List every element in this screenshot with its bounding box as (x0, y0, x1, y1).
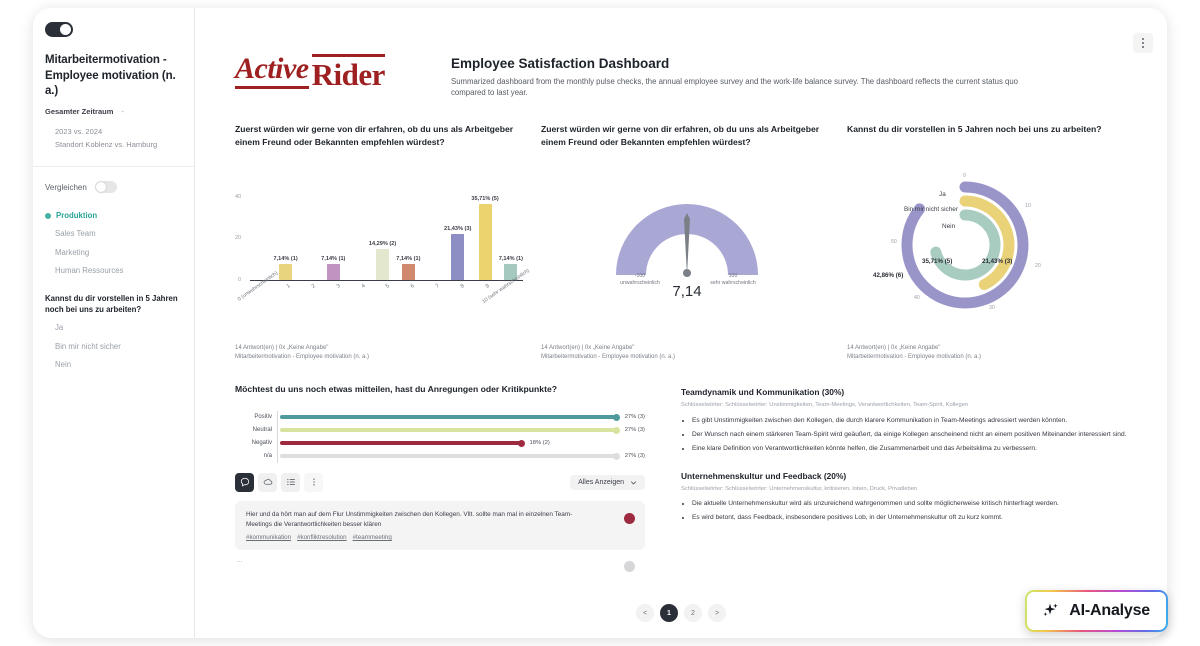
sparkles-icon (1040, 601, 1060, 621)
filter-dropdown[interactable]: Alles Anzeigen (570, 475, 645, 490)
bar-chart-x-labels: 0 (unwahrscheinlich)12345678910 (sehr wa… (250, 281, 523, 323)
x-tick-label: 8 (460, 283, 466, 290)
radial-series-label-unsure: Bin mir nicht sicher (904, 206, 958, 213)
x-label-slot: 2 (300, 281, 325, 323)
insights-panel: Teamdynamik und Kommunikation (30%) Schl… (681, 383, 1145, 589)
chart-title-2: Zuerst würden wir gerne von dir erfahren… (541, 123, 833, 165)
bar[interactable] (376, 249, 389, 279)
bar-value-label: 14,29% (2) (369, 241, 396, 247)
feedback-panel: Möchtest du uns noch etwas mitteilen, ha… (235, 383, 645, 589)
bottom-row: Möchtest du uns noch etwas mitteilen, ha… (235, 383, 1145, 589)
footnote-answers: 14 Antwort(en) | 0x „Keine Angabe" (847, 344, 1139, 354)
x-tick-label: 6 (410, 283, 416, 290)
sidebar-period-label: Gesamter Zeitraum (45, 107, 113, 116)
sentiment-row-label: Neutral (235, 427, 277, 433)
chart-footnote-1: 14 Antwort(en) | 0x „Keine Angabe" Mitar… (235, 344, 527, 364)
sidebar-option-ja[interactable]: Ja (45, 319, 182, 337)
ai-analyse-button[interactable]: AI-Analyse (1025, 590, 1168, 632)
x-label-slot: 4 (349, 281, 374, 323)
bar-slot: 7,14% (1) (396, 195, 420, 280)
logo-word-active: Active (235, 55, 309, 90)
pagination-prev[interactable]: < (636, 604, 654, 622)
sentiment-row-label: Positiv (235, 414, 277, 420)
gauge-value: 7,14 (672, 283, 701, 300)
insight-bullet: Eine klare Definition von Verantwortlich… (692, 444, 1145, 455)
y-tick-0: 0 (238, 277, 241, 283)
insight-bullet: Es wird betont, dass Feedback, insbesond… (692, 513, 1145, 524)
comment-tag-0[interactable]: #kommunikation (246, 534, 291, 541)
gauge-min-label: -100 unwahrscheinlich (605, 273, 675, 289)
sidebar-item-marketing[interactable]: Marketing (45, 244, 182, 262)
comment-tags: #kommunikation#konfliktresolution#teamme… (246, 534, 634, 541)
bar-slot (421, 195, 444, 280)
radial-tick-40: 40 (914, 295, 920, 301)
sentiment-badge-negative (624, 513, 635, 524)
insight-keywords-1: Schlüsselwörter: Schlüsselwörter: Unstim… (681, 401, 1145, 410)
x-tick-label: 9 (484, 283, 490, 290)
radial-value-ja: 42,86% (6) (873, 272, 903, 279)
radial-tick-0: 0 (963, 173, 966, 179)
sidebar: Mitarbeitermotivation - Employee motivat… (33, 8, 195, 638)
radial-svg (875, 165, 1055, 325)
radial-tick-30: 30 (989, 305, 995, 311)
insight-bullets-2: Die aktuelle Unternehmenskultur wird als… (681, 499, 1145, 524)
comment-text: Hier und da hört man auf dem Flur Unstim… (246, 510, 586, 531)
compare-toggle[interactable] (95, 181, 117, 193)
footnote-answers: 14 Antwort(en) | 0x „Keine Angabe" (235, 344, 527, 354)
radial-value-nein: 35,71% (5) (922, 258, 952, 265)
x-tick-label: 2 (311, 283, 317, 290)
sentiment-toolbar: Alles Anzeigen (235, 473, 645, 492)
more-options-icon[interactable] (1133, 33, 1153, 53)
sidebar-item-sales-team[interactable]: Sales Team (45, 225, 182, 243)
pagination-next[interactable]: > (708, 604, 726, 622)
active-rider-logo: Active Rider (235, 52, 415, 89)
sidebar-item-label: Produktion (56, 211, 97, 221)
bar-value-label: 21,43% (3) (444, 226, 471, 232)
x-label-slot: 5 (374, 281, 399, 323)
sentiment-row: Negativ18% (2) (235, 437, 645, 450)
x-tick-label: 7 (435, 283, 441, 290)
bar-value-label: 7,14% (1) (396, 256, 420, 262)
x-tick-label: 1 (286, 283, 292, 290)
sidebar-meta-1: Standort Koblenz vs. Hamburg (55, 138, 182, 152)
gauge-max-value: 100 (698, 273, 768, 281)
sentiment-row-track: 27% (3) (277, 450, 645, 463)
status-dot-icon (45, 213, 51, 219)
y-tick-20: 20 (235, 235, 241, 241)
sentiment-bar[interactable] (280, 415, 616, 419)
radial-tick-10: 10 (1025, 203, 1031, 209)
sentiment-bar-endpoint (518, 440, 525, 447)
radial-tick-20: 20 (1035, 263, 1041, 269)
sentiment-bar-chart: Positiv27% (3)Neutral27% (3)Negativ18% (… (235, 411, 645, 463)
sentiment-bar[interactable] (280, 428, 616, 432)
chart-title-1: Zuerst würden wir gerne von dir erfahren… (235, 123, 527, 165)
bar[interactable] (279, 264, 292, 279)
insight-bullet: Es gibt Unstimmigkeiten zwischen den Kol… (692, 416, 1145, 427)
pagination: < 1 2 > (636, 604, 726, 622)
bar-slot (250, 195, 273, 280)
footnote-answers: 14 Antwort(en) | 0x „Keine Angabe" (541, 344, 833, 354)
radial-bar-chart: 0 10 20 30 40 50 Ja Bin mir nicht sicher… (847, 165, 1139, 323)
bar-chart: 40 20 0 7,14% (1)7,14% (1)14,29% (2)7,14… (235, 165, 527, 323)
x-label-slot: 0 (unwahrscheinlich) (250, 281, 275, 323)
x-label-slot: 7 (424, 281, 449, 323)
x-tick-label: 3 (336, 283, 342, 290)
sentiment-row-track: 18% (2) (277, 437, 645, 450)
chart-title-3: Kannst du dir vorstellen in 5 Jahren noc… (847, 123, 1139, 165)
sidebar-option-bin-mir-nicht-sicher[interactable]: Bin mir nicht sicher (45, 338, 182, 356)
comment-tag-2[interactable]: #teammeeting (353, 534, 392, 541)
insight-section-1: Teamdynamik und Kommunikation (30%) Schl… (681, 387, 1145, 454)
sentiment-value-label: 27% (3) (625, 427, 645, 433)
bar-slot (298, 195, 321, 280)
gauge-min-sub: unwahrscheinlich (605, 280, 675, 288)
bar-chart-plot: 7,14% (1)7,14% (1)14,29% (2)7,14% (1)21,… (250, 195, 523, 280)
gauge-min-value: -100 (605, 273, 675, 281)
insight-keywords-2: Schlüsselwörter: Schlüsselwörter: Untern… (681, 485, 1145, 494)
x-label-slot: 3 (324, 281, 349, 323)
chevron-down-icon (630, 479, 637, 486)
sentiment-bar-endpoint (613, 414, 620, 421)
bar[interactable] (327, 264, 340, 279)
more-icon[interactable] (304, 473, 323, 492)
radial-series-label-ja: Ja (939, 191, 946, 198)
filter-dropdown-label: Alles Anzeigen (578, 479, 624, 486)
x-label-slot: 6 (399, 281, 424, 323)
sidebar-title: Mitarbeitermotivation - Employee motivat… (45, 53, 182, 100)
sentiment-row-label: Negativ (235, 440, 277, 446)
compare-label: Vergleichen (45, 183, 87, 192)
sentiment-bar-endpoint (613, 453, 620, 460)
chart-title-4: Möchtest du uns noch etwas mitteilen, ha… (235, 383, 645, 396)
sidebar-group-title: Kannst du dir vorstellen in 5 Jahren noc… (45, 293, 182, 316)
chart-footnote-2: 14 Antwort(en) | 0x „Keine Angabe" Mitar… (541, 344, 833, 364)
bar-slot (345, 195, 368, 280)
app-window: Mitarbeitermotivation - Employee motivat… (33, 8, 1167, 638)
bar[interactable] (451, 234, 464, 280)
dashboard-header: Active Rider Employee Satisfaction Dashb… (235, 52, 1145, 99)
sidebar-divider (33, 166, 194, 167)
sentiment-bar[interactable] (280, 454, 616, 458)
screenshot-root: Mitarbeitermotivation - Employee motivat… (0, 0, 1200, 646)
sidebar-option-nein[interactable]: Nein (45, 356, 182, 374)
chart-card-nps-bar: Zuerst würden wir gerne von dir erfahren… (235, 123, 527, 364)
compare-row[interactable]: Vergleichen (45, 181, 182, 193)
main-content: Active Rider Employee Satisfaction Dashb… (195, 8, 1167, 638)
page-title: Employee Satisfaction Dashboard (451, 56, 1145, 71)
sidebar-item-human-ressources[interactable]: Human Ressources (45, 262, 182, 280)
sidebar-item-produktion[interactable]: Produktion (45, 207, 182, 225)
bar-slot: 7,14% (1) (499, 195, 523, 280)
gauge-max-sub: sehr wahrscheinlich (698, 280, 768, 288)
page-description: Summarized dashboard from the monthly pu… (451, 76, 1051, 99)
pagination-page-2[interactable]: 2 (684, 604, 702, 622)
x-label-slot: 1 (275, 281, 300, 323)
gauge-svg (602, 179, 772, 284)
list-icon[interactable] (281, 473, 300, 492)
ai-analyse-label: AI-Analyse (1069, 602, 1150, 620)
pagination-page-1[interactable]: 1 (660, 604, 678, 622)
sentiment-row: Neutral27% (3) (235, 424, 645, 437)
footnote-source: Mitarbeitermotivation - Employee motivat… (847, 353, 1139, 363)
comment-card[interactable]: Hier und da hört man auf dem Flur Unstim… (235, 501, 645, 551)
radial-value-unsure: 21,43% (3) (982, 258, 1012, 265)
bar-slot: 21,43% (3) (444, 195, 471, 280)
gauge-max-label: 100 sehr wahrscheinlich (698, 273, 768, 289)
x-tick-label: 4 (360, 283, 366, 290)
chart-footnote-3: 14 Antwort(en) | 0x „Keine Angabe" Mitar… (847, 344, 1139, 364)
sentiment-value-label: 27% (3) (625, 414, 645, 420)
insight-title-2: Unternehmenskultur und Feedback (20%) (681, 471, 1145, 481)
sidebar-main-toggle[interactable] (45, 22, 73, 37)
bar-value-label: 35,71% (5) (471, 196, 498, 202)
radial-series-label-nein: Nein (942, 223, 955, 230)
logo-word-rider: Rider (312, 60, 385, 89)
sentiment-row-track: 27% (3) (277, 424, 645, 437)
insight-section-2: Unternehmenskultur und Feedback (20%) Sc… (681, 471, 1145, 524)
sentiment-row-label: n/a (235, 453, 277, 459)
sidebar-period: Gesamter Zeitraum- (45, 107, 182, 116)
x-tick-label: 5 (385, 283, 391, 290)
sentiment-value-label: 18% (2) (530, 440, 550, 446)
bar-slot: 14,29% (2) (369, 195, 396, 280)
comment-card-2[interactable]: ... (235, 557, 645, 589)
footnote-source: Mitarbeitermotivation - Employee motivat… (235, 353, 527, 363)
sentiment-badge-neutral (624, 561, 635, 572)
sentiment-row-track: 27% (3) (277, 411, 645, 424)
bar-slot: 7,14% (1) (321, 195, 345, 280)
bar-slot: 7,14% (1) (273, 195, 297, 280)
sentiment-row: Positiv27% (3) (235, 411, 645, 424)
bar[interactable] (402, 264, 415, 279)
sentiment-bar[interactable] (280, 441, 521, 445)
x-label-slot: 10 (sehr wahrscheinlich) (498, 281, 523, 323)
insight-bullet: Die aktuelle Unternehmenskultur wird als… (692, 499, 1145, 510)
radial-tick-50: 50 (891, 239, 897, 245)
sentiment-value-label: 27% (3) (625, 453, 645, 459)
insight-title-1: Teamdynamik und Kommunikation (30%) (681, 387, 1145, 397)
bar-value-label: 7,14% (1) (321, 256, 345, 262)
bar[interactable] (479, 204, 492, 280)
sentiment-row: n/a27% (3) (235, 450, 645, 463)
footnote-source: Mitarbeitermotivation - Employee motivat… (541, 353, 833, 363)
insight-bullet: Der Wunsch nach einem stärkeren Team-Spi… (692, 430, 1145, 441)
comment-icon[interactable] (235, 473, 254, 492)
y-tick-40: 40 (235, 194, 241, 200)
bar-slot: 35,71% (5) (471, 195, 498, 280)
chart-card-retention-radial: Kannst du dir vorstellen in 5 Jahren noc… (847, 123, 1139, 364)
chart-card-nps-gauge: Zuerst würden wir gerne von dir erfahren… (541, 123, 833, 364)
cloud-icon[interactable] (258, 473, 277, 492)
sidebar-period-dash: - (121, 107, 124, 116)
x-label-slot: 8 (449, 281, 474, 323)
bar-value-label: 7,14% (1) (273, 256, 297, 262)
gauge-chart: -100 unwahrscheinlich 100 sehr wahrschei… (541, 165, 833, 323)
charts-row: Zuerst würden wir gerne von dir erfahren… (235, 123, 1145, 364)
bar-value-label: 7,14% (1) (499, 256, 523, 262)
comment-text-2: ... (235, 557, 645, 564)
comment-tag-1[interactable]: #konfliktresolution (297, 534, 347, 541)
sidebar-meta-0: 2023 vs. 2024 (55, 125, 182, 139)
sentiment-bar-endpoint (613, 427, 620, 434)
insight-bullets-1: Es gibt Unstimmigkeiten zwischen den Kol… (681, 416, 1145, 455)
